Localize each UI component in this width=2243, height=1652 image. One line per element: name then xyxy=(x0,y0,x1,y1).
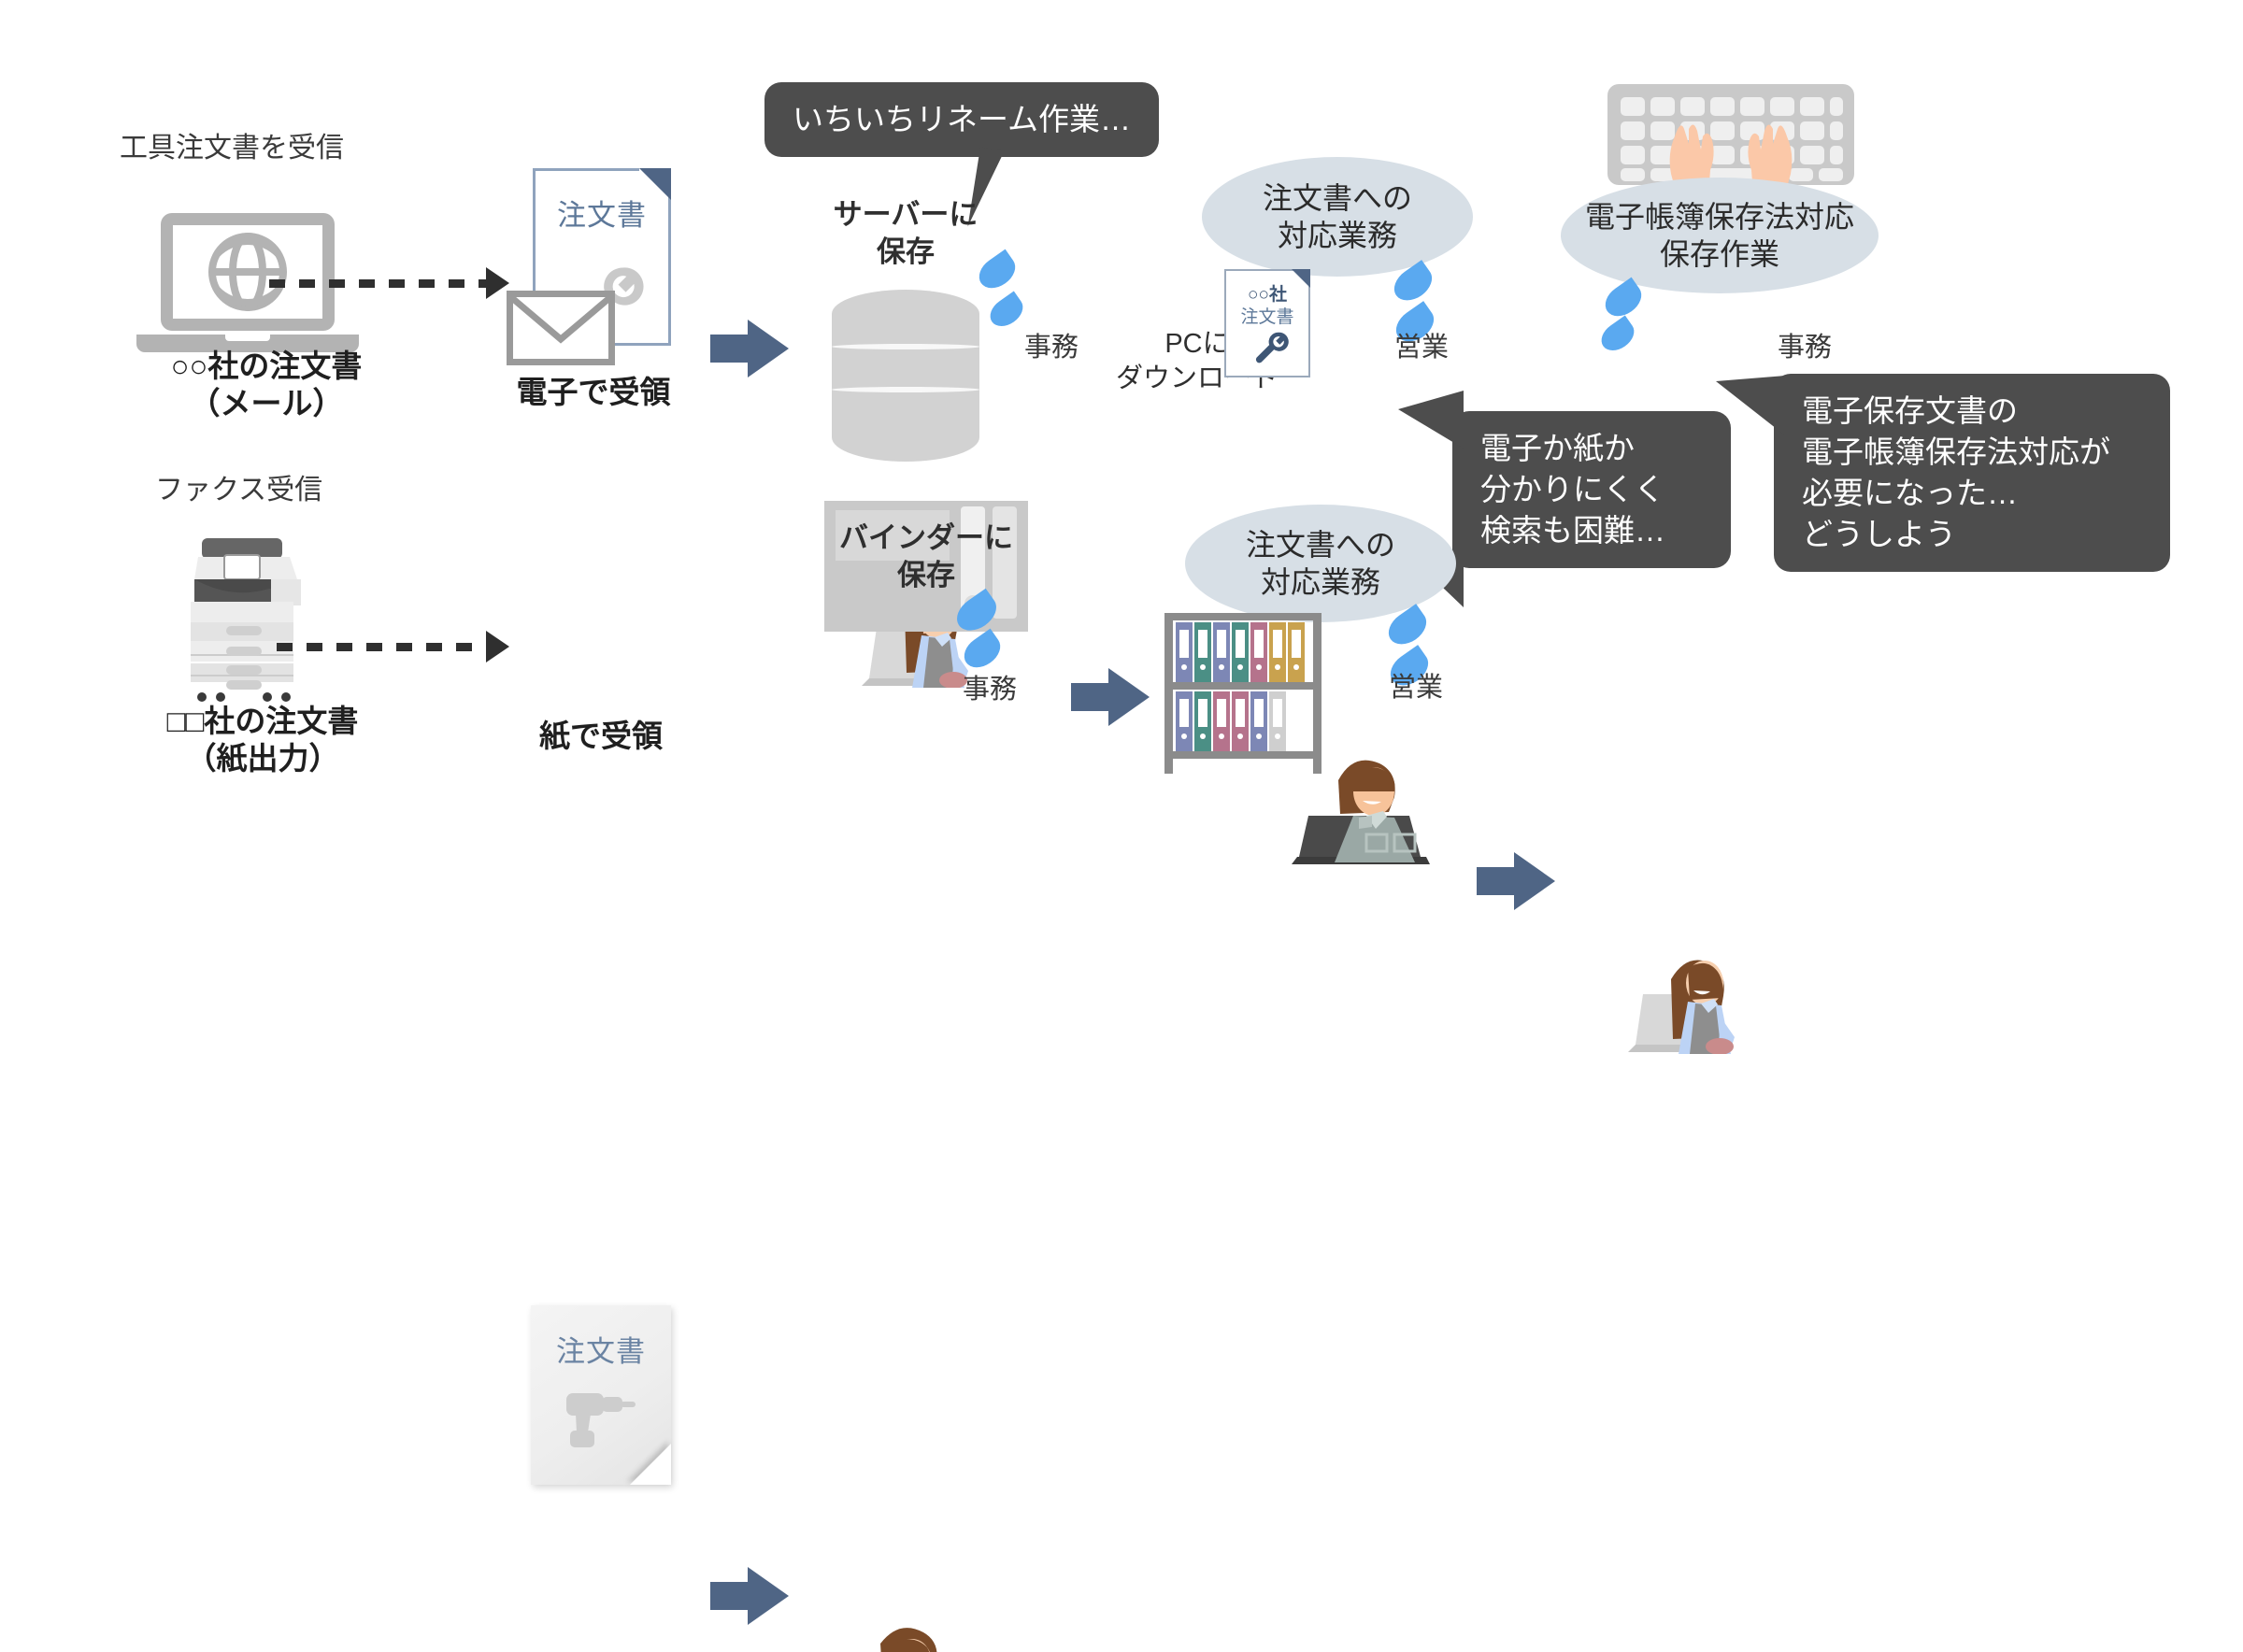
envelope-icon xyxy=(507,291,615,365)
wrench-icon xyxy=(1249,327,1292,370)
doc-title: 注文書 xyxy=(531,1328,671,1370)
flow-arrow-3 xyxy=(1477,852,1555,910)
server-database-icon xyxy=(832,290,979,463)
order-doc-title: 注文書 xyxy=(1226,303,1308,328)
rename-complaint-text: いちいちリネーム作業… xyxy=(764,82,1159,157)
sweat-drop xyxy=(1596,316,1640,357)
clerk-figure-binder xyxy=(802,1617,2243,1652)
paper-order-document: 注文書 xyxy=(531,1305,671,1485)
sales-role-label-paper: 営業 xyxy=(1389,665,1443,705)
flow-arrow-4 xyxy=(710,1567,789,1625)
sweat-drop xyxy=(985,292,1029,333)
problem-bubble-search: 電子か紙か 分かりにくく 検索も困難… xyxy=(1452,411,1731,568)
multifunction-printer-icon xyxy=(178,525,318,707)
binder-store-label: バインダーに 保存 xyxy=(821,520,1032,593)
archive-task-bubble: 電子帳簿保存法対応 保存作業 xyxy=(1561,178,1879,293)
binder-rack-icon xyxy=(1159,609,1327,782)
electronic-source-caption: 工具注文書を受信 xyxy=(120,131,344,166)
flow-arrow-2 xyxy=(1071,668,1150,726)
workflow-diagram: 工具注文書を受信 ○○社の注文書 （メール） 注文 xyxy=(0,0,2243,826)
clerk-figure-server xyxy=(841,576,2243,692)
clerk-figure-archive xyxy=(1607,942,2243,1059)
problem-bubble-law-tail xyxy=(1716,376,1785,435)
server-store-label: サーバーに 保存 xyxy=(806,196,1006,270)
problem-bubble-search-text: 電子か紙か 分かりにくく 検索も困難… xyxy=(1452,411,1731,568)
sales-role-label-electronic: 営業 xyxy=(1394,325,1449,364)
clerk-role-label-archive: 事務 xyxy=(1778,325,1832,364)
doc-title: 注文書 xyxy=(536,192,668,234)
rename-complaint-bubble: いちいちリネーム作業… xyxy=(764,82,1159,157)
clerk-role-label-binder: 事務 xyxy=(963,667,1017,706)
order-doc-thumbnail: ○○社 注文書 xyxy=(1224,269,1310,377)
electronic-source-label: ○○社の注文書 （メール） xyxy=(121,348,411,423)
paper-source-label: □□社の注文書 （紙出力） xyxy=(118,703,407,778)
order-doc-company: ○○社 xyxy=(1226,280,1308,306)
paper-flow-connector xyxy=(277,631,509,662)
paper-source-caption: ファクス受信 xyxy=(155,473,322,508)
order-task-bubble-electronic: 注文書への 対応業務 xyxy=(1202,157,1473,277)
flow-arrow-1 xyxy=(710,320,789,377)
clerk-role-label-server: 事務 xyxy=(1024,325,1079,364)
paper-receipt-caption: 紙で受領 xyxy=(514,718,688,755)
problem-bubble-law-text: 電子保存文書の 電子帳簿保存法対応が 必要になった… どうしよう xyxy=(1774,374,2170,572)
problem-bubble-search-tail xyxy=(1398,391,1464,449)
problem-bubble-law: 電子保存文書の 電子帳簿保存法対応が 必要になった… どうしよう xyxy=(1774,374,2170,572)
sales-figure-electronic xyxy=(1280,743,2243,869)
electronic-receipt-caption: 電子で受領 xyxy=(507,374,680,411)
electronic-flow-connector xyxy=(269,267,509,299)
